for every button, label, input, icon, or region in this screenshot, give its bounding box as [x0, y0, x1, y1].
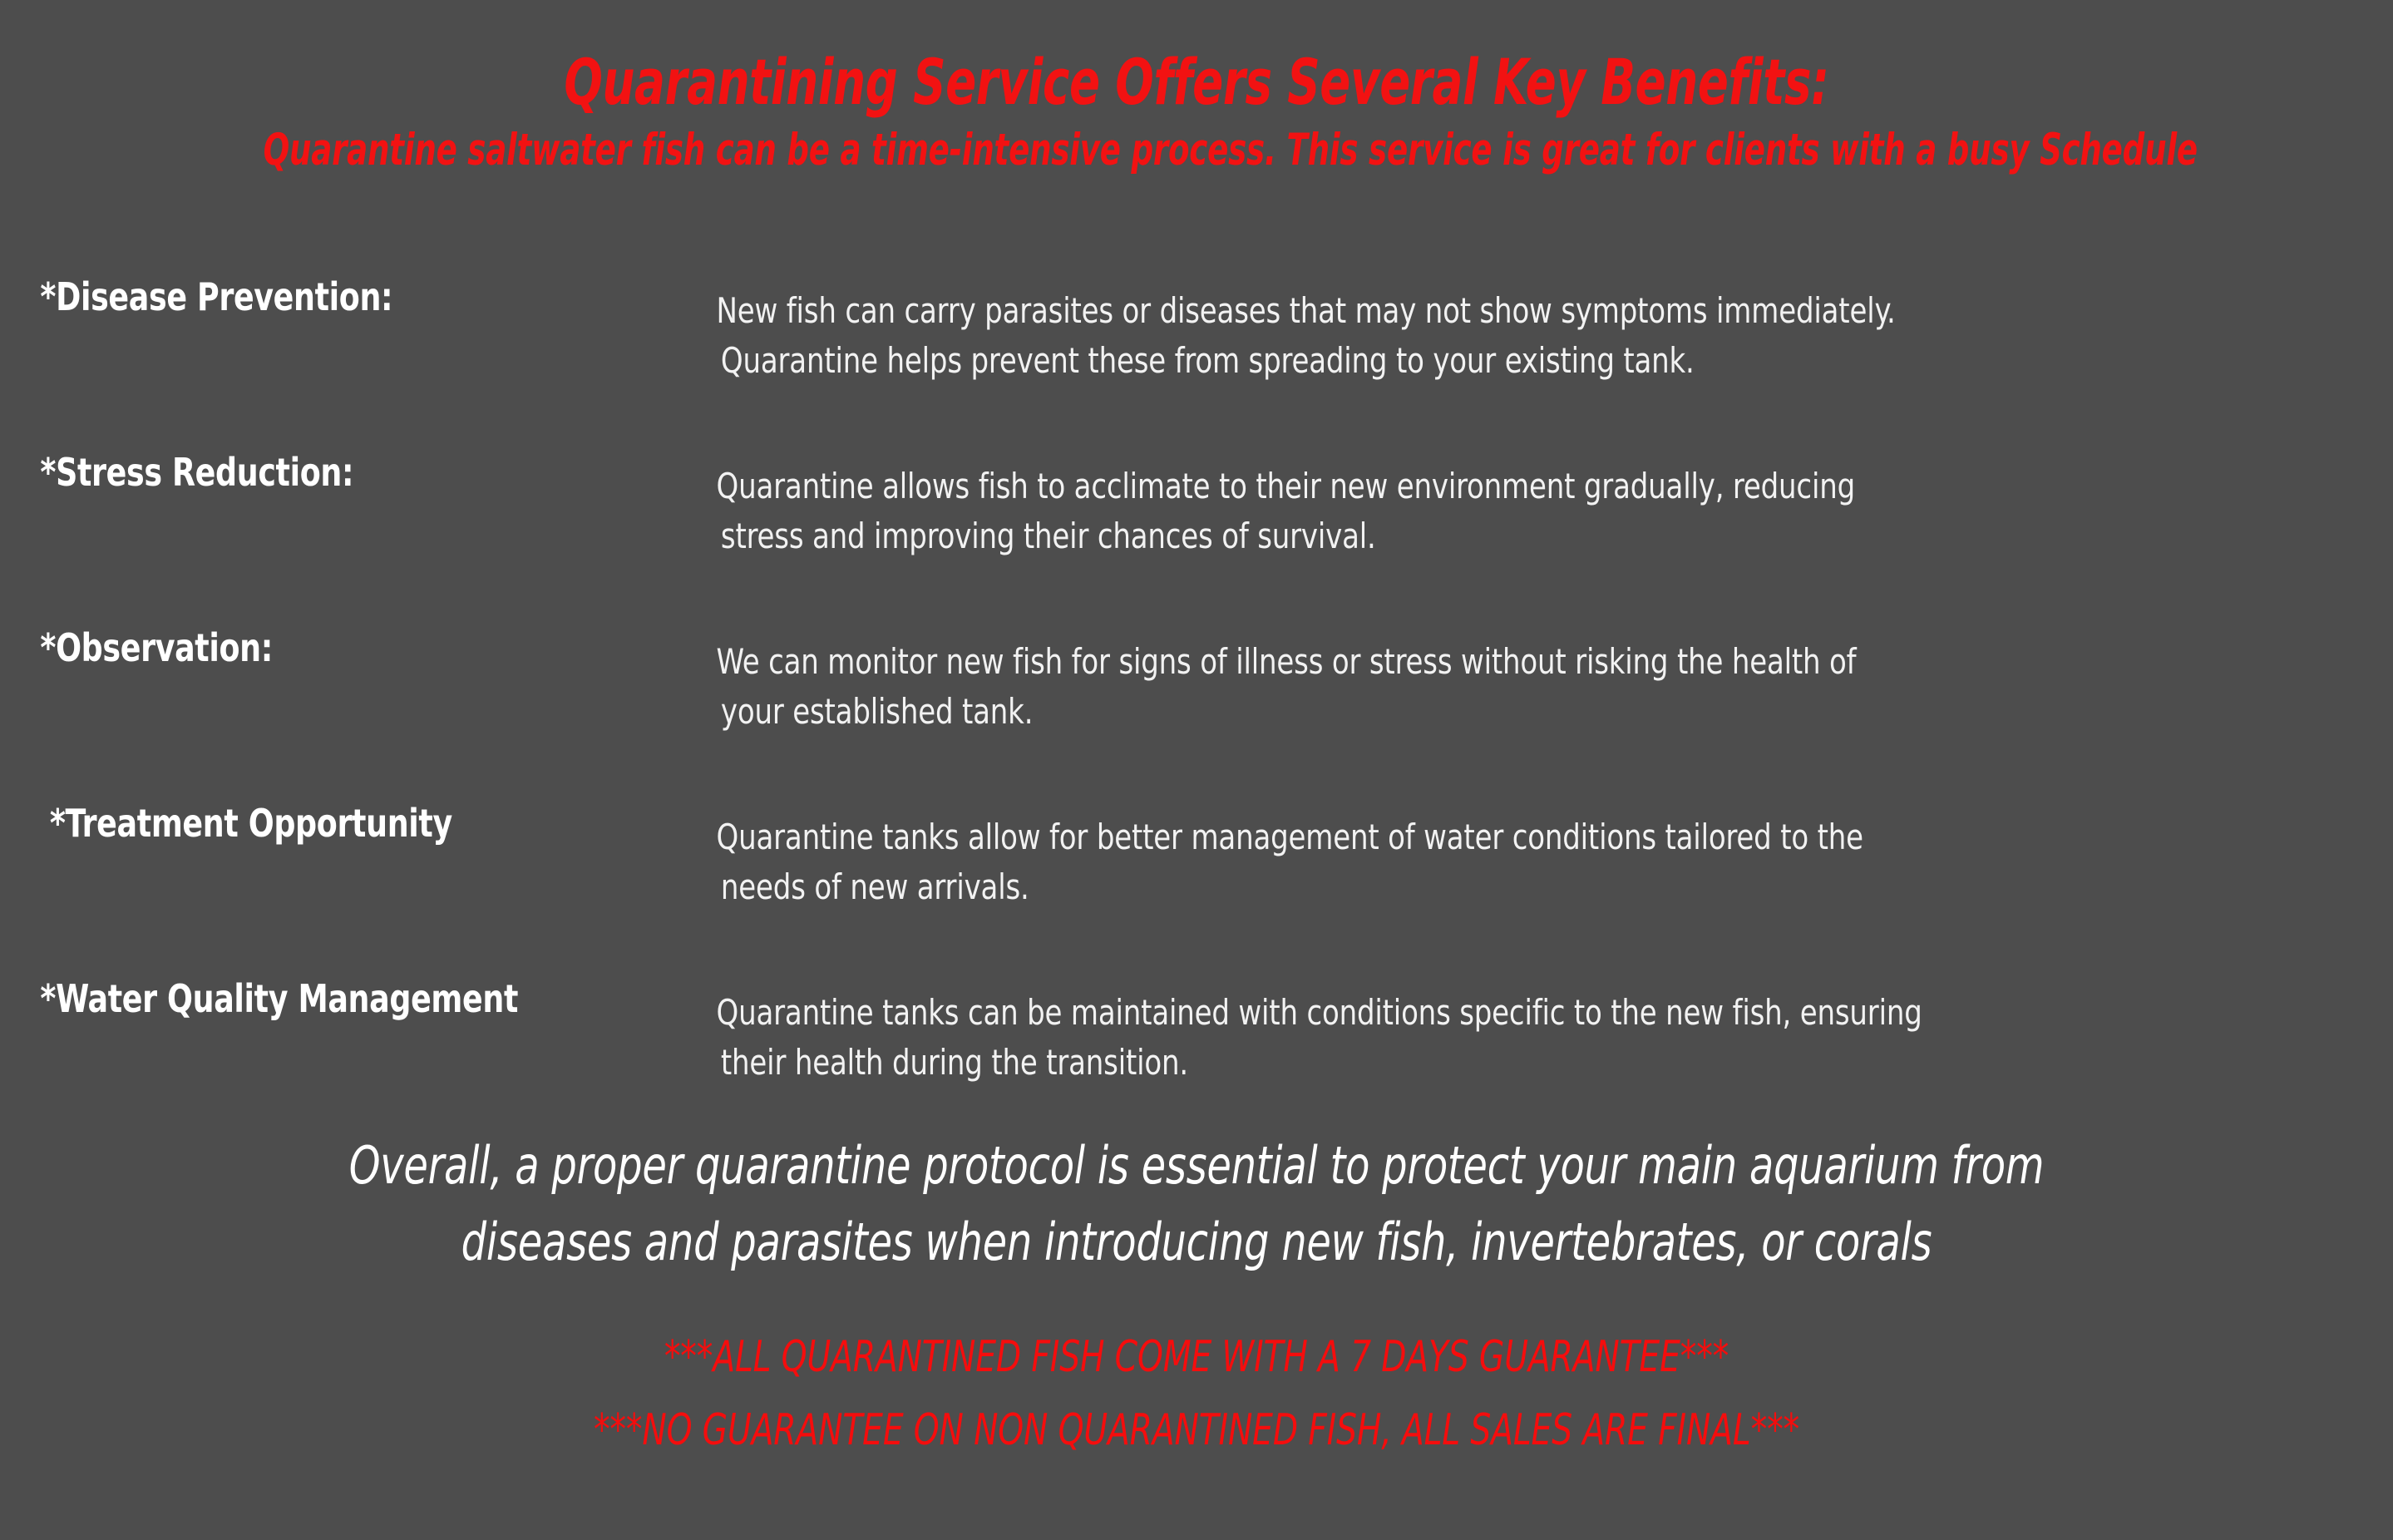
benefit-term: *Stress Reduction: [0, 450, 607, 495]
benefit-description-line: your established tank. [717, 687, 2180, 737]
benefit-term: *Treatment Opportunity [0, 801, 607, 846]
benefit-description: Quarantine allows fish to acclimate to t… [690, 450, 2179, 561]
benefit-description: Quarantine tanks can be maintained with … [690, 976, 2179, 1088]
benefit-term: *Observation: [0, 625, 607, 670]
benefit-description-line: Quarantine helps prevent these from spre… [717, 336, 2180, 386]
benefit-description-line: stress and improving their chances of su… [717, 511, 2180, 561]
poster-header: Quarantining Service Offers Several Key … [0, 47, 2393, 176]
benefit-description: Quarantine tanks allow for better manage… [690, 801, 2179, 912]
closing-statement: Overall, a proper quarantine protocol is… [0, 1128, 2393, 1281]
benefit-description: We can monitor new fish for signs of ill… [690, 625, 2179, 737]
quarantine-service-poster: Quarantining Service Offers Several Key … [0, 0, 2393, 1540]
benefit-description-line: Quarantine tanks allow for better manage… [717, 817, 1863, 857]
benefit-item-water-quality-management: *Water Quality Management Quarantine tan… [0, 976, 2393, 1152]
benefit-item-stress-reduction: *Stress Reduction: Quarantine allows fis… [0, 450, 2393, 625]
page-subtitle: Quarantine saltwater fish can be a time-… [264, 125, 2130, 176]
benefit-item-treatment-opportunity: *Treatment Opportunity Quarantine tanks … [0, 801, 2393, 976]
benefit-description-line: We can monitor new fish for signs of ill… [717, 641, 1857, 682]
guarantee-note-line: ***ALL QUARANTINED FISH COME WITH A 7 DA… [191, 1320, 2202, 1394]
benefit-item-disease-prevention: *Disease Prevention: New fish can carry … [0, 274, 2393, 450]
benefit-description-line: needs of new arrivals. [717, 862, 2180, 912]
benefit-description-line: Quarantine allows fish to acclimate to t… [717, 466, 1856, 506]
benefit-item-observation: *Observation: We can monitor new fish fo… [0, 625, 2393, 801]
benefits-list: *Disease Prevention: New fish can carry … [0, 274, 2393, 1152]
guarantee-notes: ***ALL QUARANTINED FISH COME WITH A 7 DA… [0, 1320, 2393, 1467]
benefit-description-line: New fish can carry parasites or diseases… [717, 290, 1896, 331]
benefit-description-line: their health during the transition. [717, 1038, 2180, 1088]
guarantee-note-line: ***NO GUARANTEE ON NON QUARANTINED FISH,… [191, 1394, 2202, 1467]
benefit-description: New fish can carry parasites or diseases… [690, 274, 2179, 386]
benefit-term: *Water Quality Management [0, 976, 607, 1021]
benefit-term: *Disease Prevention: [0, 274, 607, 319]
benefit-description-line: Quarantine tanks can be maintained with … [717, 992, 1922, 1033]
page-title: Quarantining Service Offers Several Key … [239, 47, 2154, 118]
closing-statement-line: diseases and parasites when introducing … [167, 1204, 2225, 1281]
closing-statement-line: Overall, a proper quarantine protocol is… [167, 1128, 2225, 1204]
